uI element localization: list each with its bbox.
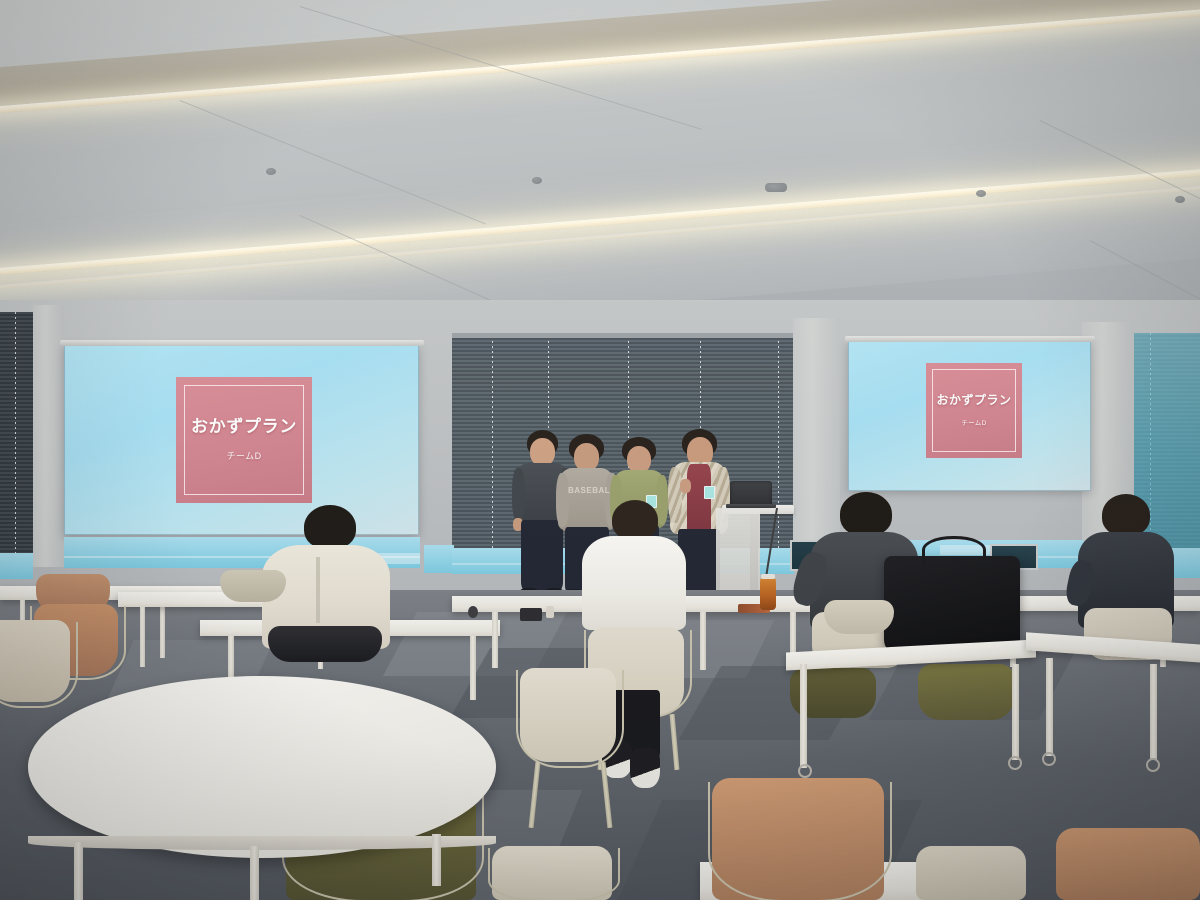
table-leg bbox=[1150, 664, 1157, 760]
oval-table-leg bbox=[432, 834, 441, 886]
desk-object-box[interactable] bbox=[520, 608, 542, 621]
left-slide-subtitle: チームD bbox=[191, 452, 297, 462]
black-tote-bag-handle bbox=[922, 536, 986, 565]
right-slide-text: おかずプラン チームD bbox=[937, 394, 1012, 426]
sprinkler-head bbox=[266, 168, 276, 175]
presenter-1-head bbox=[530, 438, 555, 466]
audience-front-center-hair bbox=[612, 500, 658, 540]
table-leg bbox=[800, 664, 807, 768]
chair-cream-behind-oval[interactable] bbox=[220, 570, 286, 602]
speaker-podium-body bbox=[716, 508, 760, 596]
presenter-1-arm-left bbox=[512, 468, 525, 522]
chair-chrome-frame bbox=[708, 782, 892, 900]
desk-object-round[interactable] bbox=[468, 606, 478, 618]
oval-table-edge bbox=[28, 836, 496, 850]
presenter-2-head bbox=[574, 443, 599, 471]
right-slide-title: おかずプラン bbox=[937, 394, 1012, 407]
chair-chrome-frame bbox=[0, 622, 78, 708]
chair-terracotta-bottom-right[interactable] bbox=[1056, 828, 1200, 900]
window-strip-far-left bbox=[0, 553, 33, 579]
right-projection-screen[interactable]: おかずプラン チームD bbox=[848, 341, 1091, 491]
chair-chrome-frame bbox=[516, 670, 624, 768]
black-tote-bag[interactable] bbox=[884, 556, 1020, 654]
sprinkler-head bbox=[532, 177, 542, 184]
chair-chrome-frame bbox=[488, 848, 620, 900]
oval-table-foreground[interactable] bbox=[28, 676, 496, 858]
window-blinds-far-left bbox=[0, 312, 33, 574]
table-leg bbox=[700, 612, 706, 670]
left-slide-card: おかずプラン チームD bbox=[176, 377, 312, 503]
left-slide-title: おかずプラン bbox=[191, 418, 297, 437]
table-leg bbox=[470, 636, 476, 700]
presenter-laptop-base[interactable] bbox=[726, 504, 776, 508]
table-leg bbox=[140, 607, 145, 667]
audience-front-center-torso bbox=[582, 536, 686, 630]
table-caster bbox=[798, 764, 812, 778]
chair-olive-right[interactable] bbox=[918, 664, 1014, 720]
presentation-room-photo: おかずプラン チームD おかずプラン チームD bbox=[0, 0, 1200, 900]
oval-table-leg bbox=[74, 842, 83, 900]
table-caster bbox=[1042, 752, 1056, 766]
left-slide-text: おかずプラン チームD bbox=[191, 418, 297, 463]
oval-table-leg bbox=[250, 846, 259, 900]
sprinkler-head bbox=[976, 190, 986, 197]
audience-right-a-hair bbox=[840, 492, 892, 536]
table-caster bbox=[1146, 758, 1160, 772]
chair-cream-bottom[interactable] bbox=[916, 846, 1026, 900]
table-leg bbox=[1046, 658, 1053, 756]
right-slide-subtitle: チームD bbox=[937, 420, 1012, 427]
table-leg bbox=[492, 612, 498, 668]
drink-bottle[interactable] bbox=[760, 578, 776, 610]
audience-right-b-hair bbox=[1102, 494, 1150, 536]
chair-cream-right-back[interactable] bbox=[824, 600, 894, 634]
chair-audience-front-left[interactable] bbox=[268, 626, 382, 662]
table-leg bbox=[1012, 664, 1019, 760]
audience-front-center-shoe bbox=[630, 748, 660, 788]
presenter-4-name-badge bbox=[704, 486, 715, 499]
table-leg bbox=[160, 600, 165, 658]
ceiling-speaker bbox=[765, 183, 787, 192]
presenter-3-head bbox=[627, 446, 651, 473]
table-caster bbox=[1008, 756, 1022, 770]
presenter-laptop-screen[interactable] bbox=[730, 481, 772, 506]
left-screen-roller bbox=[60, 340, 424, 346]
drink-bottle-cap bbox=[761, 574, 775, 579]
sprinkler-head bbox=[1175, 196, 1185, 203]
presenter-4-hand-gesture bbox=[680, 479, 691, 493]
audience-front-left-shirt-pleat bbox=[316, 557, 320, 623]
audience-front-left-hair bbox=[304, 505, 356, 549]
blind-headrail bbox=[452, 333, 797, 338]
right-slide-card: おかずプラン チームD bbox=[926, 363, 1022, 458]
right-screen-roller bbox=[845, 336, 1095, 342]
window-strip-left-gap bbox=[424, 545, 454, 573]
desk-object-small[interactable] bbox=[546, 606, 554, 618]
